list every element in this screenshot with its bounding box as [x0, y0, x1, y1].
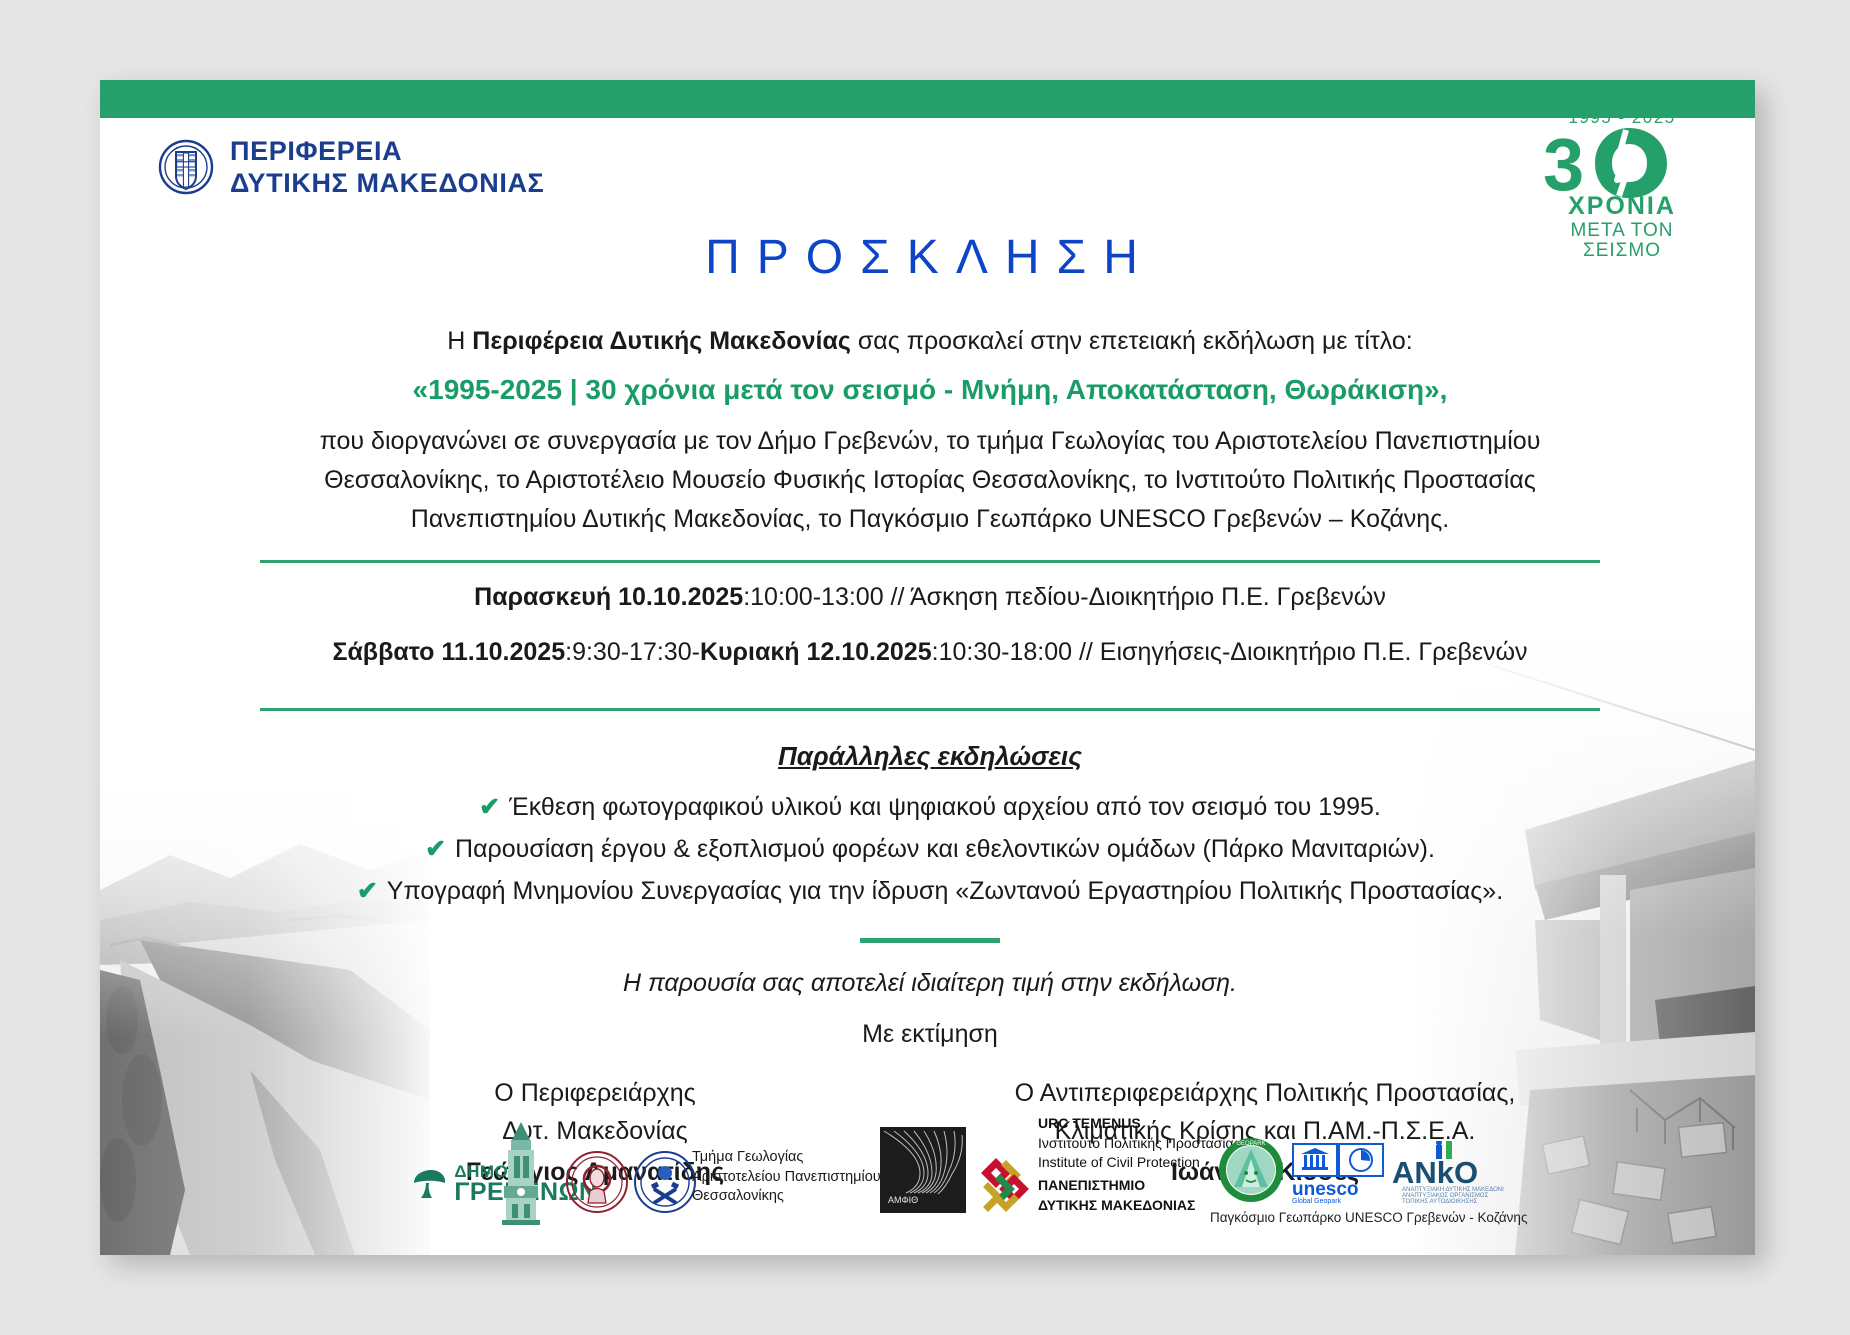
temenus-knot-icon — [978, 1157, 1034, 1215]
list-item-label: Παρουσίαση έργου & εξοπλισμού φορέων και… — [455, 835, 1435, 863]
lead-prefix: Η — [447, 327, 472, 355]
page-title: ΠΡΟΣΚΛΗΣΗ — [260, 230, 1600, 285]
check-icon: ✔ — [425, 835, 446, 863]
unesco-logo: unesco Global Geopark — [1292, 1143, 1384, 1205]
footer-logos: ΔΗΜΟΣ ΓΡΕΒΕΝΩΝ — [100, 1118, 1755, 1233]
unesco-wordmark: unesco — [1292, 1179, 1359, 1200]
schedule-detail-1: :10:00-13:00 // Άσκηση πεδίου-Διοικητήρι… — [743, 583, 1386, 611]
lead-paragraph: Η Περιφέρεια Δυτικής Μακεδονίας σας προσ… — [260, 327, 1600, 356]
anko-sub-3: ΤΟΠΙΚΗΣ ΑΥΤΟΔΙΟΙΚΗΣΗΣ — [1402, 1199, 1478, 1203]
check-icon: ✔ — [479, 793, 500, 821]
signature-title-line1: Ο Περιφερειάρχης — [260, 1075, 930, 1113]
list-item-label: Έκθεση φωτογραφικού υλικού και ψηφιακού … — [509, 793, 1381, 821]
check-icon: ✔ — [357, 877, 378, 905]
temenus-line-3: Institute of Civil Protection — [1038, 1153, 1240, 1172]
divider-short — [860, 938, 1000, 943]
list-item: ✔Παρουσίαση έργου & εξοπλισμού φορέων κα… — [260, 828, 1600, 870]
geopark-logo-icon: GEOPARK — [1218, 1137, 1284, 1203]
divider-above-schedule — [260, 560, 1600, 563]
schedule-row: Παρασκευή 10.10.2025:10:00-13:00 // Άσκη… — [260, 577, 1600, 618]
anko-wordmark: AΝkO — [1392, 1155, 1478, 1190]
unesco-subtitle: Global Geopark — [1292, 1198, 1342, 1205]
signature-title-line1: Ο Αντιπεριφερειάρχης Πολιτικής Προστασία… — [930, 1075, 1600, 1113]
temenus-institute-text: URC TEMENUS Ινστιτούτο Πολιτικής Προστασ… — [1038, 1114, 1240, 1215]
greek-coat-of-arms-icon — [158, 139, 214, 195]
schedule-day-2: Σάββατο 11.10.2025 — [332, 638, 565, 666]
schedule-mid-2: :9:30-17:30- — [565, 638, 700, 666]
lead-organization: Περιφέρεια Δυτικής Μακεδονίας — [472, 327, 851, 355]
aristotle-university-seal-icon — [566, 1151, 628, 1213]
organizers-paragraph: που διοργανώνει σε συνεργασία με τον Δήμ… — [260, 422, 1600, 538]
list-item-label: Υπογραφή Μνημονίου Συνεργασίας για την ί… — [387, 877, 1503, 905]
clock-tower-icon — [492, 1120, 550, 1225]
honor-text: Η παρουσία σας αποτελεί ιδιαίτερη τιμή σ… — [260, 969, 1600, 998]
schedule-row: Σάββατο 11.10.2025:9:30-17:30-Κυριακή 12… — [260, 632, 1600, 673]
schedule-detail-2: :10:30-18:00 // Εισηγήσεις-Διοικητήριο Π… — [932, 638, 1528, 666]
geology-line-1: Τμήμα Γεωλογίας — [692, 1148, 881, 1168]
list-item: ✔Έκθεση φωτογραφικού υλικού και ψηφιακού… — [260, 786, 1600, 828]
geopark-ring-label: GEOPARK — [1236, 1141, 1265, 1147]
schedule-day-1: Παρασκευή 10.10.2025 — [474, 583, 743, 611]
list-item: ✔Υπογραφή Μνημονίου Συνεργασίας για την … — [260, 870, 1600, 912]
event-title: «1995-2025 | 30 χρόνια μετά τον σεισμό -… — [260, 374, 1600, 406]
divider-below-schedule — [260, 708, 1600, 711]
anko-logo: AΝkO ΑΝΑΠΤΥΞΙΑΚΗ ΔΥΤΙΚΗΣ ΜΑΚΕΔΟΝΙΑΣ Α.Ε.… — [1392, 1141, 1504, 1203]
organizers-line-2: Θεσσαλονίκης, το Αριστοτέλειο Μουσείο Φυ… — [260, 461, 1600, 500]
lead-suffix: σας προσκαλεί στην επετειακή εκδήλωση με… — [851, 327, 1413, 355]
temenus-line-2: Ινστιτούτο Πολιτικής Προστασίας — [1038, 1134, 1240, 1153]
amfith-label: ΑΜΦΙΘ — [888, 1195, 918, 1205]
organizers-line-3: Πανεπιστημίου Δυτικής Μακεδονίας, το Παγ… — [260, 500, 1600, 539]
temenus-line-1: URC TEMENUS — [1038, 1114, 1240, 1133]
geology-department-text: Τμήμα Γεωλογίας Αριστοτελείου Πανεπιστημ… — [692, 1148, 881, 1207]
geology-line-2: Αριστοτελείου Πανεπιστημίου — [692, 1168, 881, 1188]
geopark-caption: Παγκόσμιο Γεωπάρκο UNESCO Γρεβενών - Κοζ… — [1210, 1210, 1527, 1225]
schedule-day-3: Κυριακή 12.10.2025 — [700, 638, 932, 666]
geology-line-3: Θεσσαλονίκης — [692, 1187, 881, 1207]
organizers-line-1: που διοργανώνει σε συνεργασία με τον Δήμ… — [260, 422, 1600, 461]
schedule-block: Παρασκευή 10.10.2025:10:00-13:00 // Άσκη… — [260, 577, 1600, 686]
mushroom-icon — [412, 1169, 448, 1199]
invitation-page: ΠΕΡΙΦΕΡΕΙΑ ΔΥΤΙΚΗΣ ΜΑΚΕΔΟΝΙΑΣ 1995 - 202… — [100, 80, 1755, 1255]
regards-text: Με εκτίμηση — [260, 1020, 1600, 1049]
parallel-events-list: ✔Έκθεση φωτογραφικού υλικού και ψηφιακού… — [260, 786, 1600, 912]
parallel-events-heading: Παράλληλες εκδηλώσεις — [260, 741, 1600, 772]
invitation-content: ΠΡΟΣΚΛΗΣΗ Η Περιφέρεια Δυτικής Μακεδονία… — [260, 80, 1600, 1192]
geology-department-seal-icon — [634, 1151, 696, 1213]
amfith-museum-logo: ΑΜΦΙΘ — [880, 1127, 966, 1213]
temenus-line-4: ΠΑΝΕΠΙΣΤΗΜΙΟ — [1038, 1176, 1240, 1195]
